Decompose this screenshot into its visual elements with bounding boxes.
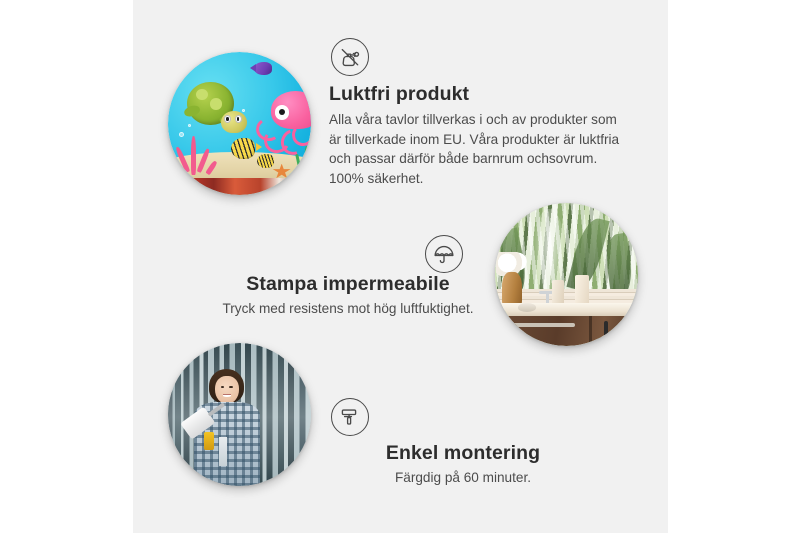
wooden-vanity <box>501 316 638 346</box>
umbrella-icon <box>425 235 463 273</box>
woman-smile <box>223 395 231 398</box>
sea-bottom-strip <box>188 178 305 195</box>
yellow-fish-icon <box>231 138 255 159</box>
turtle-eye <box>224 115 231 123</box>
feature-text-easy-mounting: Enkel montering Färgdig på 60 minuter. <box>323 441 603 488</box>
shirt-inner-layer <box>219 437 228 466</box>
feature-title: Enkel montering <box>323 441 603 465</box>
cabinet-handle <box>604 321 608 338</box>
octopus-head <box>271 91 311 129</box>
feature-text-odour-free: Luktfri produkt Alla våra tavlor tillver… <box>329 82 629 188</box>
feature-body: Färgdig på 60 minuter. <box>323 468 603 488</box>
feature-text-waterproof: Stampa impermeabile Tryck med resistens … <box>163 272 533 319</box>
feature-body: Tryck med resistens mot hög luftfuktighe… <box>163 299 533 319</box>
feature-title: Luktfri produkt <box>329 82 629 106</box>
soap-bottle <box>552 280 563 306</box>
roller-handle <box>208 402 226 417</box>
purple-fish-icon <box>254 62 273 75</box>
woman-eye <box>221 386 225 388</box>
feature-body: Alla våra tavlor tillverkas i och av pro… <box>329 110 629 188</box>
no-odour-spray-bottle-icon <box>331 38 369 76</box>
infographic-panel: Luktfri produkt Alla våra tavlor tillver… <box>133 0 668 533</box>
octopus-eye <box>275 105 290 120</box>
turtle-head <box>221 111 246 133</box>
infographic-root: Luktfri produkt Alla våra tavlor tillver… <box>0 0 800 533</box>
painter-woman-forest-wallpaper-photo <box>168 343 311 486</box>
turtle-illustration <box>184 82 247 135</box>
octopus-illustration <box>254 91 311 160</box>
turtle-eye <box>235 115 242 123</box>
tool-grip <box>204 432 214 451</box>
feature-title: Stampa impermeabile <box>163 272 533 296</box>
woman-eye <box>229 386 233 388</box>
yellow-fish-icon <box>257 154 274 168</box>
coral-illustration <box>172 132 218 175</box>
paint-roller-icon <box>331 398 369 436</box>
underwater-cartoon-wallpaper-photo <box>168 52 311 195</box>
